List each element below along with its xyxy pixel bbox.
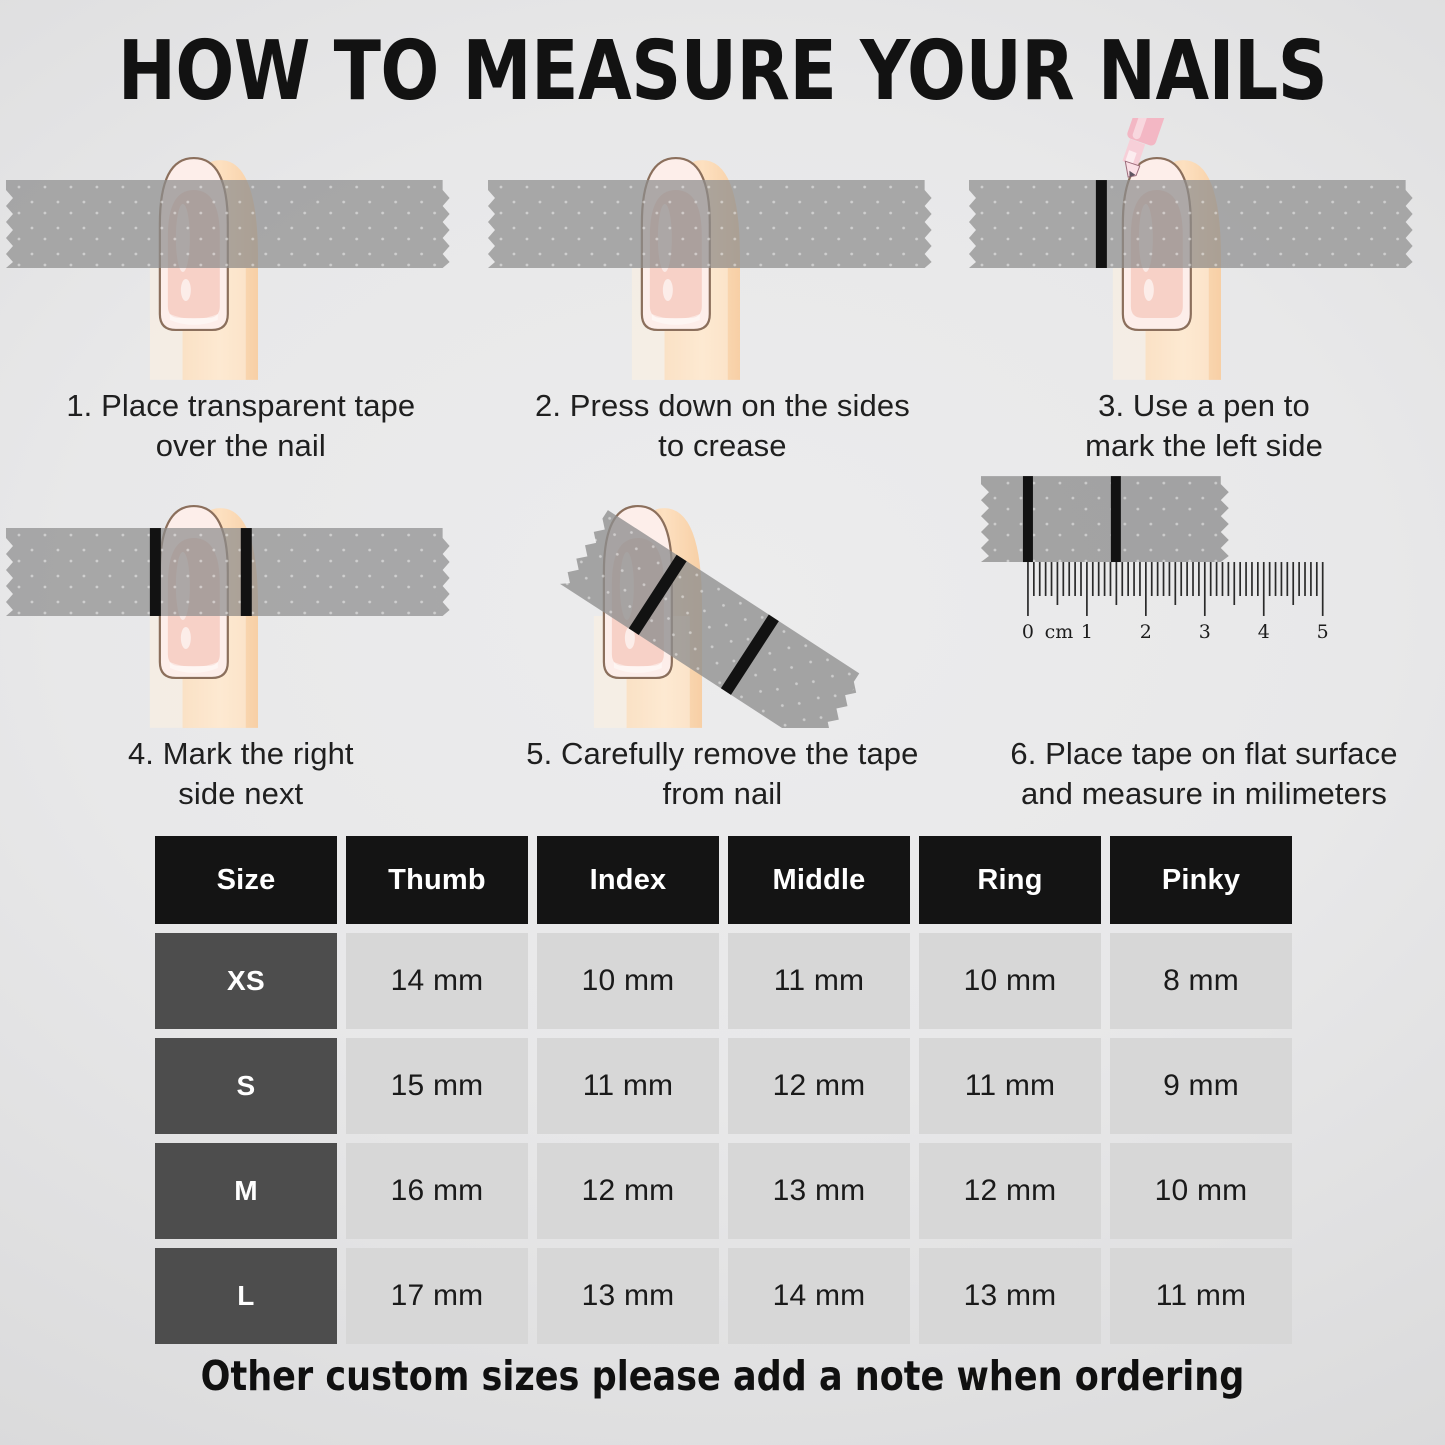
steps-row-top: 1. Place transparent tape over the nail bbox=[0, 118, 1445, 466]
step-3: 3. Use a pen to mark the left side bbox=[963, 118, 1445, 466]
tape-strip-flat bbox=[981, 476, 1229, 562]
steps-section: 1. Place transparent tape over the nail bbox=[0, 118, 1445, 814]
step-6-caption: 6. Place tape on flat surface and measur… bbox=[1000, 734, 1407, 814]
step-6-illustration: 0 cm 1 2 3 4 5 bbox=[963, 466, 1445, 728]
table-cell-pinky: 10 mm bbox=[1110, 1143, 1292, 1239]
table-cell-ring: 11 mm bbox=[919, 1038, 1101, 1134]
footer-note: Other custom sizes please add a note whe… bbox=[36, 1352, 1409, 1400]
size-table: Size Thumb Index Middle Ring Pinky XS 14… bbox=[155, 836, 1295, 1344]
table-cell-index: 13 mm bbox=[537, 1248, 719, 1344]
table-cell-ring: 12 mm bbox=[919, 1143, 1101, 1239]
step-5: 5. Carefully remove the tape from nail bbox=[482, 466, 964, 814]
tape-strip bbox=[6, 528, 450, 616]
step-5-illustration bbox=[482, 466, 964, 728]
step-1-caption: 1. Place transparent tape over the nail bbox=[56, 386, 425, 466]
table-header-middle: Middle bbox=[728, 836, 910, 924]
table-row: M 16 mm 12 mm 13 mm 12 mm 10 mm bbox=[155, 1143, 1295, 1239]
table-row: XS 14 mm 10 mm 11 mm 10 mm 8 mm bbox=[155, 933, 1295, 1029]
table-cell-size: XS bbox=[155, 933, 337, 1029]
tape-strip bbox=[6, 180, 450, 268]
tape-strip bbox=[969, 180, 1413, 268]
ruler-tick-3: 3 bbox=[1199, 621, 1211, 643]
step-1: 1. Place transparent tape over the nail bbox=[0, 118, 482, 466]
ruler-labels: 0 cm 1 2 3 4 5 bbox=[1022, 621, 1329, 643]
left-mark bbox=[1096, 180, 1107, 268]
table-cell-index: 11 mm bbox=[537, 1038, 719, 1134]
table-cell-middle: 13 mm bbox=[728, 1143, 910, 1239]
ruler-tick-1: 1 bbox=[1081, 621, 1093, 643]
right-mark bbox=[241, 528, 252, 616]
table-cell-middle: 11 mm bbox=[728, 933, 910, 1029]
table-cell-size: L bbox=[155, 1248, 337, 1344]
ruler-tick-0: 0 bbox=[1022, 621, 1034, 643]
ruler-tick-4: 4 bbox=[1258, 621, 1270, 643]
table-cell-ring: 10 mm bbox=[919, 933, 1101, 1029]
step-5-caption: 5. Carefully remove the tape from nail bbox=[516, 734, 928, 814]
ruler-tick-2: 2 bbox=[1140, 621, 1152, 643]
step-3-caption: 3. Use a pen to mark the left side bbox=[1075, 386, 1333, 466]
tape-strip bbox=[488, 180, 932, 268]
table-cell-size: M bbox=[155, 1143, 337, 1239]
page-title: HOW TO MEASURE YOUR NAILS bbox=[43, 24, 1401, 119]
table-cell-middle: 12 mm bbox=[728, 1038, 910, 1134]
step-4-illustration bbox=[0, 466, 482, 728]
table-cell-size: S bbox=[155, 1038, 337, 1134]
ruler-unit: cm bbox=[1045, 621, 1074, 643]
table-cell-middle: 14 mm bbox=[728, 1248, 910, 1344]
table-row: L 17 mm 13 mm 14 mm 13 mm 11 mm bbox=[155, 1248, 1295, 1344]
table-cell-index: 10 mm bbox=[537, 933, 719, 1029]
table-cell-thumb: 17 mm bbox=[346, 1248, 528, 1344]
step-1-illustration bbox=[0, 118, 482, 380]
table-cell-pinky: 8 mm bbox=[1110, 933, 1292, 1029]
step-4: 4. Mark the right side next bbox=[0, 466, 482, 814]
step-6: 0 cm 1 2 3 4 5 6. Place tape on flat sur… bbox=[963, 466, 1445, 814]
table-row: S 15 mm 11 mm 12 mm 11 mm 9 mm bbox=[155, 1038, 1295, 1134]
left-mark bbox=[1023, 476, 1033, 562]
table-header-index: Index bbox=[537, 836, 719, 924]
table-cell-thumb: 16 mm bbox=[346, 1143, 528, 1239]
step-2: 2. Press down on the sides to crease bbox=[482, 118, 964, 466]
table-header-row: Size Thumb Index Middle Ring Pinky bbox=[155, 836, 1295, 924]
table-header-pinky: Pinky bbox=[1110, 836, 1292, 924]
steps-row-bottom: 4. Mark the right side next bbox=[0, 466, 1445, 814]
table-header-ring: Ring bbox=[919, 836, 1101, 924]
table-cell-pinky: 9 mm bbox=[1110, 1038, 1292, 1134]
step-2-caption: 2. Press down on the sides to crease bbox=[525, 386, 920, 466]
table-cell-thumb: 15 mm bbox=[346, 1038, 528, 1134]
step-2-illustration bbox=[482, 118, 964, 380]
step-4-caption: 4. Mark the right side next bbox=[118, 734, 364, 814]
left-mark bbox=[150, 528, 161, 616]
table-cell-index: 12 mm bbox=[537, 1143, 719, 1239]
table-cell-ring: 13 mm bbox=[919, 1248, 1101, 1344]
step-3-illustration bbox=[963, 118, 1445, 380]
table-header-thumb: Thumb bbox=[346, 836, 528, 924]
right-mark bbox=[1111, 476, 1121, 562]
table-cell-pinky: 11 mm bbox=[1110, 1248, 1292, 1344]
ruler-tick-5: 5 bbox=[1317, 621, 1329, 643]
table-cell-thumb: 14 mm bbox=[346, 933, 528, 1029]
ruler-graphic bbox=[1028, 562, 1323, 616]
table-header-size: Size bbox=[155, 836, 337, 924]
